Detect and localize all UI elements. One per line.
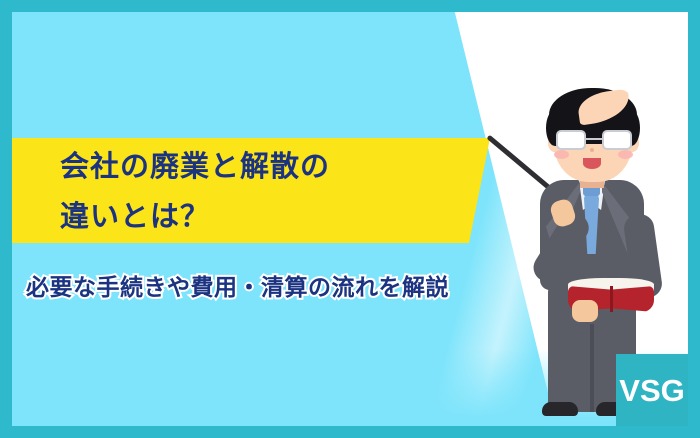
cheek-left [554, 150, 569, 159]
cheek-right [618, 150, 633, 159]
subtitle-text: 必要な手続きや費用・清算の流れを解説 [26, 268, 449, 302]
mouth [583, 158, 601, 169]
vsg-logo: VSG [616, 354, 688, 426]
page-title: 会社の廃業と解散の 違いとは？ [60, 142, 490, 242]
title-line-1: 会社の廃業と解散の [60, 142, 490, 192]
glasses-bridge [586, 138, 602, 140]
glasses-lens-left [556, 130, 586, 150]
glasses-icon [556, 130, 632, 150]
glasses-lens-right [602, 130, 632, 150]
nose [590, 148, 594, 152]
eyecatch-image: 会社の廃業と解散の 違いとは？ 必要な手続きや費用・清算の流れを解説 [0, 0, 700, 438]
leg-divider [590, 324, 594, 412]
canvas-background: 会社の廃業と解散の 違いとは？ 必要な手続きや費用・清算の流れを解説 [12, 12, 688, 426]
hand-right [572, 300, 598, 322]
book-spine [610, 286, 613, 312]
vsg-logo-text: VSG [619, 375, 684, 406]
title-line-2: 違いとは？ [60, 192, 490, 242]
shoe-left [542, 402, 578, 416]
